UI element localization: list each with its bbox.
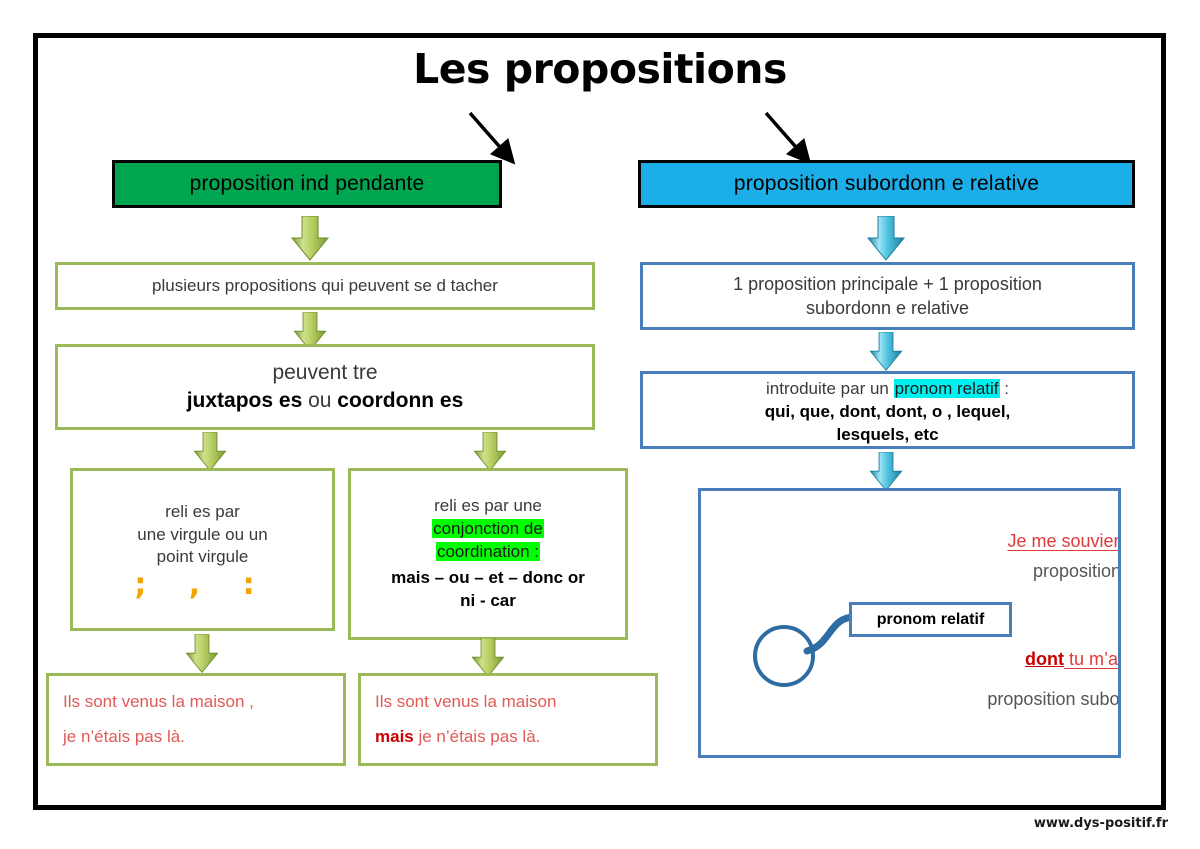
box-peuvent-etre: peuvent tre juxtapos es ou coordonn es — [55, 344, 595, 430]
word-ou: ou — [302, 389, 337, 412]
banner-subordinate-relative: proposition subordonn e relative — [638, 160, 1135, 208]
callout-label: pronom relatif — [877, 609, 985, 630]
box-principale-plus-subordonnee: 1 proposition principale + 1 proposition… — [640, 262, 1135, 330]
banner-independent-proposition: proposition ind pendante — [112, 160, 502, 208]
example-jux-line1: Ils sont venus la maison , — [63, 685, 329, 720]
example-coord-rest: je n’étais pas là. — [414, 727, 541, 746]
green-arrow-branch-left-icon — [190, 432, 230, 472]
box-relies-par-virgule: reli es par une virgule ou un point virg… — [70, 468, 335, 631]
circle-highlight-dont-icon — [753, 625, 815, 687]
example-coordination: Ils sont venus la maison mais je n’étais… — [358, 673, 658, 766]
example-juxtaposition: Ils sont venus la maison , je n’étais pa… — [46, 673, 346, 766]
blue-arrow-2-icon — [866, 332, 906, 372]
conj-highlight-line1: conjonction de — [351, 518, 625, 541]
hl-coordination: coordination : — [436, 542, 540, 561]
virgule-line1: reli es par — [73, 501, 332, 524]
example-coord-line1: Ils sont venus la maison — [375, 685, 641, 720]
word-coordonnees: coordonn es — [337, 389, 463, 412]
hl-pronom-relatif: pronom relatif — [894, 379, 1000, 398]
virgule-line3: point virgule — [73, 546, 332, 569]
peuvent-etre-line1: peuvent tre — [58, 359, 592, 387]
label-proposition-principale: proposition principale — [910, 559, 1122, 583]
green-arrow-branch-right-icon — [470, 432, 510, 472]
box-conjonction-coordination: reli es par une conjonction de coordinat… — [348, 468, 628, 640]
word-dont: dont — [1025, 649, 1064, 669]
page-title: Les propositions — [0, 45, 1200, 93]
rbox1-line2: subordonn e relative — [643, 296, 1132, 320]
conj-line1: reli es par une — [351, 495, 625, 518]
virgule-line2: une virgule ou un — [73, 524, 332, 547]
conj-list-line2: ni - car — [351, 590, 625, 613]
rbox2-colon: : — [1000, 379, 1009, 398]
title-arrow-right-icon — [760, 108, 830, 168]
blue-arrow-1-icon — [866, 216, 906, 262]
blue-arrow-3-icon — [866, 452, 906, 492]
conj-list-line1: mais – ou – et – donc or — [351, 567, 625, 590]
callout-pronom-relatif: pronom relatif — [849, 602, 1012, 637]
example-coord-mais: mais — [375, 727, 414, 746]
example-sentence-subordonnee: dont tu m’as parlé hier. — [910, 647, 1122, 671]
word-juxtaposees: juxtapos es — [187, 389, 303, 412]
rbox1-line1: 1 proposition principale + 1 proposition — [643, 272, 1132, 296]
banner-independent-label: proposition ind pendante — [190, 172, 425, 196]
peuvent-etre-line2: juxtapos es ou coordonn es — [58, 387, 592, 415]
box-plusieurs-propositions: plusieurs propositions qui peuvent se d … — [55, 262, 595, 310]
rbox2-line3: lesquels, etc — [643, 424, 1132, 447]
green-arrow-example-right-icon — [468, 638, 508, 678]
title-arrow-left-icon — [460, 108, 530, 168]
green-arrow-1-icon — [290, 216, 330, 262]
box-example-subordonnee: Je me souviens de l’histoire proposition… — [698, 488, 1121, 758]
hl-conjonction-de: conjonction de — [432, 519, 544, 538]
footer-watermark: www.dys-positif.fr — [0, 816, 1168, 831]
green-arrow-example-left-icon — [182, 634, 222, 674]
punctuation-marks: ; , : — [73, 571, 332, 598]
banner-subordinate-label: proposition subordonn e relative — [734, 172, 1039, 196]
box-pronom-relatif-list: introduite par un pronom relatif : qui, … — [640, 371, 1135, 449]
example-sentence-rest: tu m’as parlé hier. — [1064, 649, 1121, 669]
rbox2-line1: introduite par un pronom relatif : — [643, 378, 1132, 401]
rbox2-intro: introduite par un — [766, 379, 894, 398]
example-coord-line2: mais je n’étais pas là. — [375, 720, 641, 755]
conj-highlight-line2: coordination : — [351, 541, 625, 564]
example-jux-line2: je n’étais pas là. — [63, 720, 329, 755]
label-proposition-subordonnee: proposition subordonn e relative. — [910, 687, 1122, 711]
example-sentence-principale: Je me souviens de l’histoire — [910, 529, 1122, 553]
rbox2-line2: qui, que, dont, dont, o , lequel, — [643, 401, 1132, 424]
diagram-page: Les propositions — [0, 0, 1200, 849]
box-plusieurs-text: plusieurs propositions qui peuvent se d … — [58, 275, 592, 298]
